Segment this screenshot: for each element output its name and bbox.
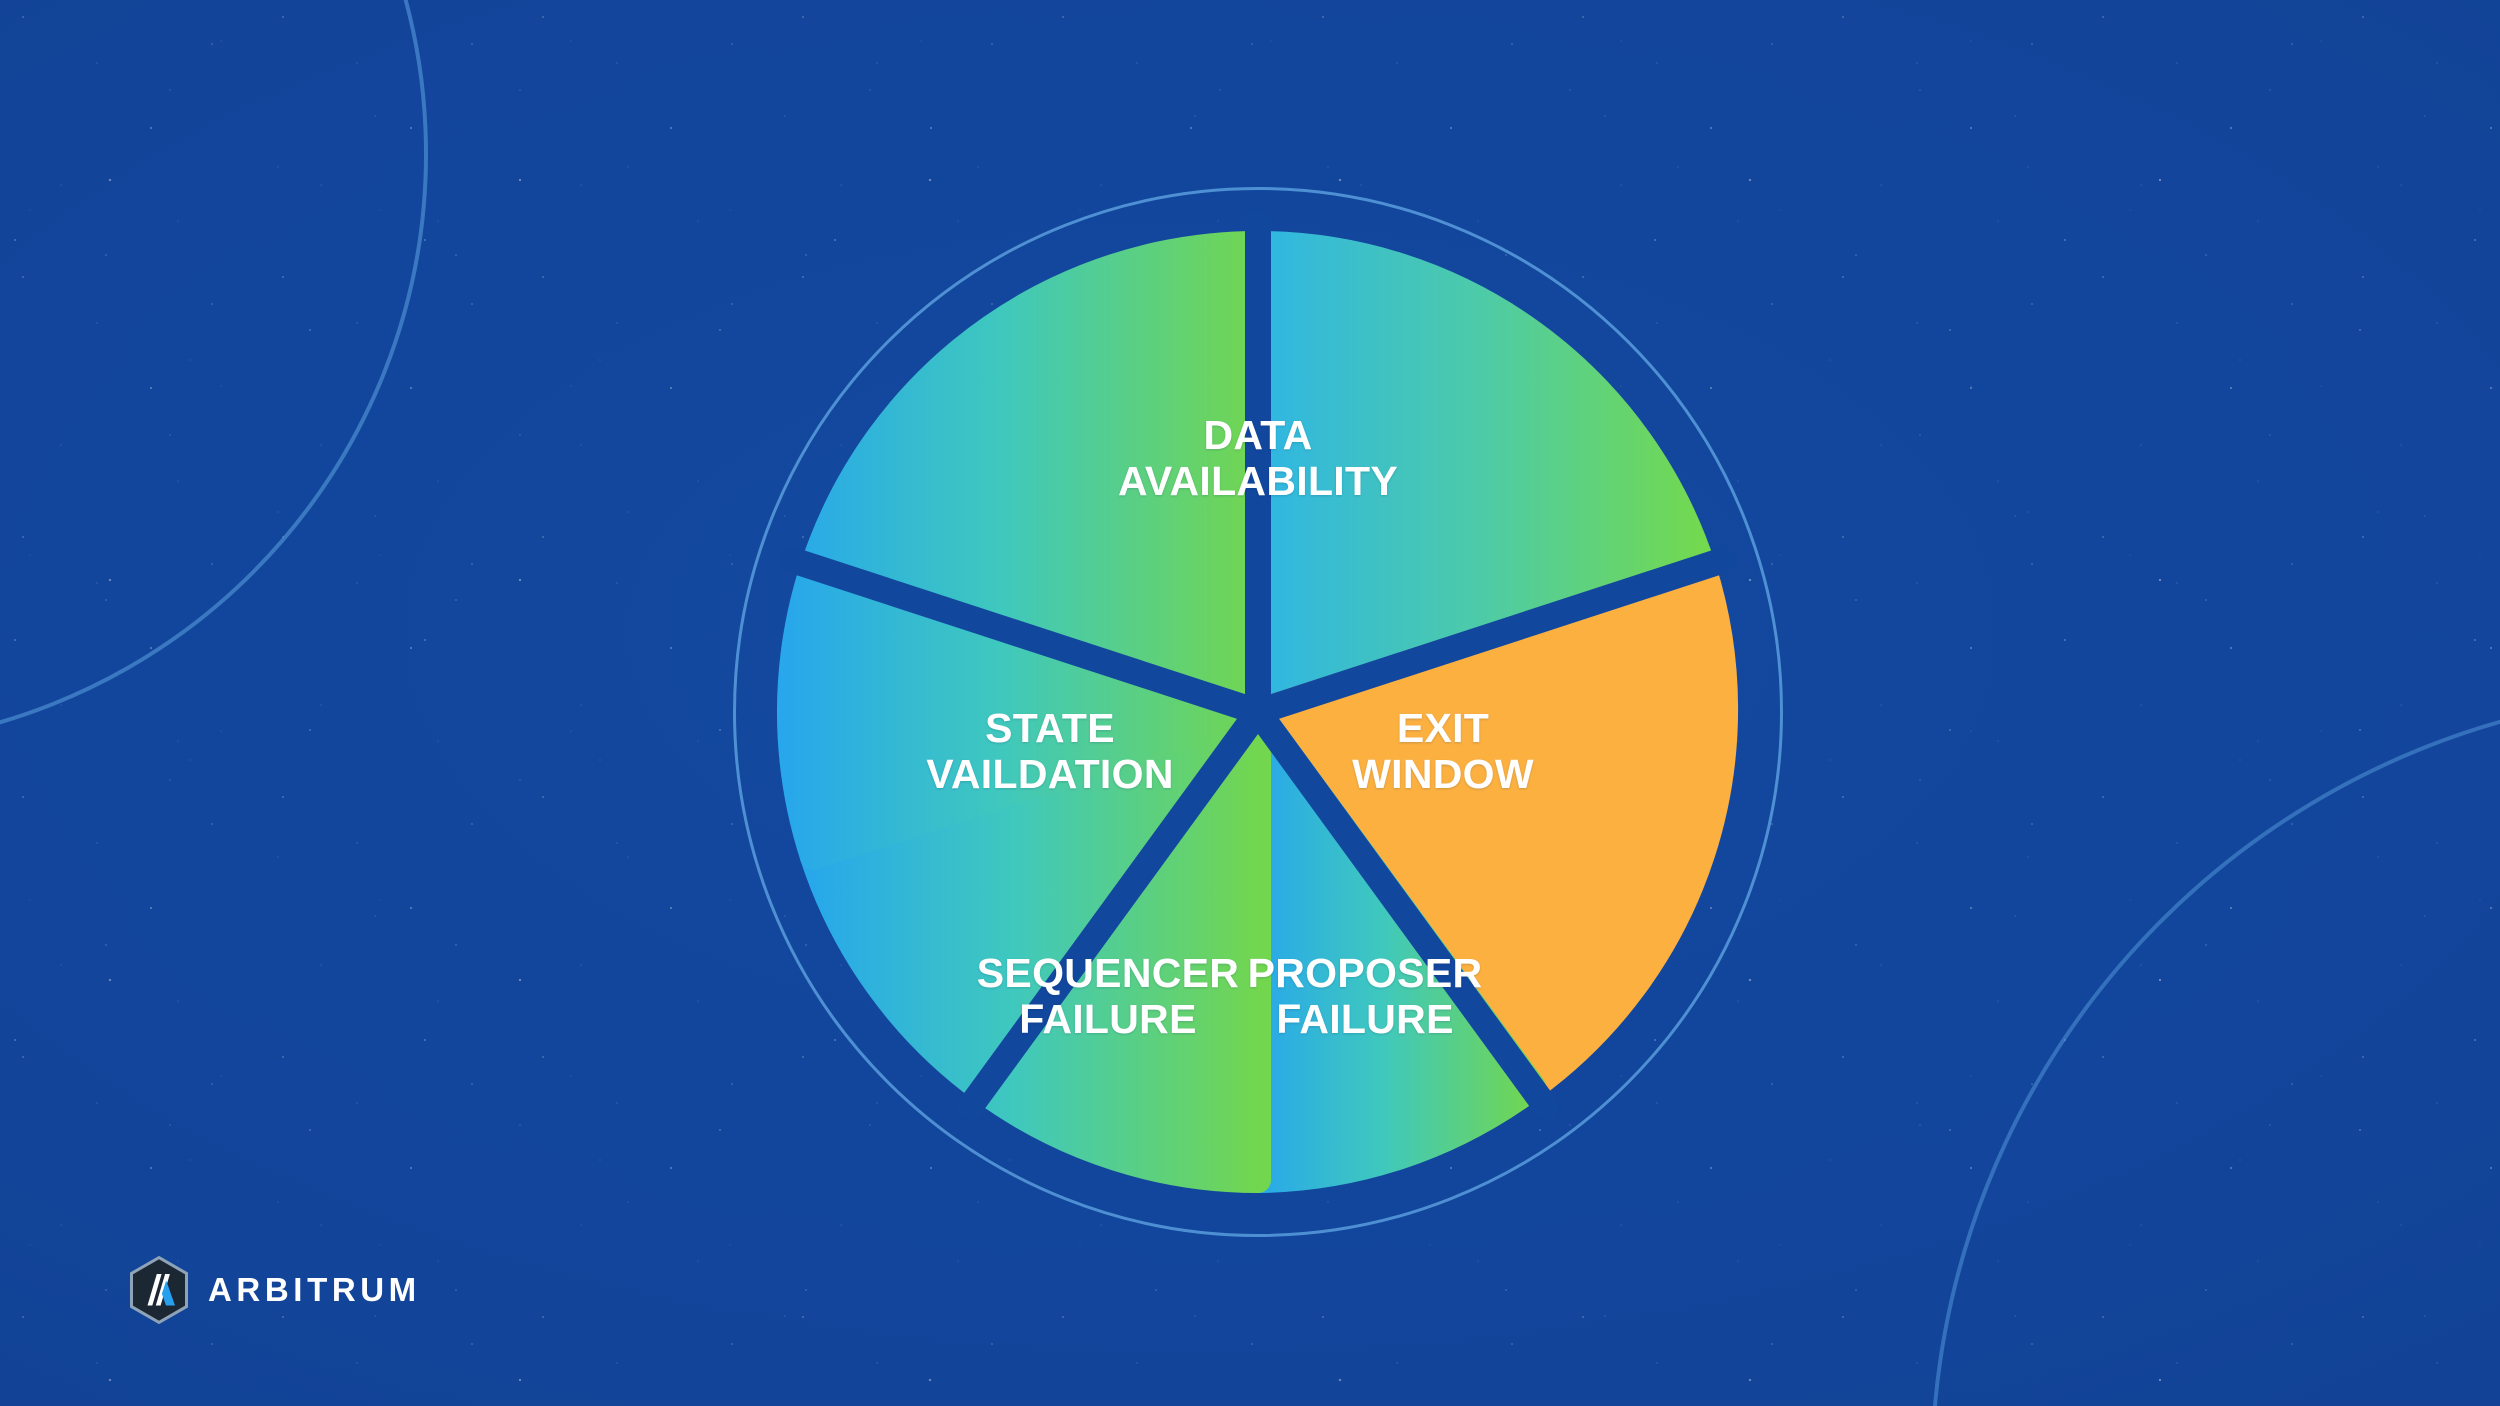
infographic-canvas: DATA AVAILABILITY EXIT WINDOW PROPOSER F… xyxy=(0,0,2500,1406)
pie-slices xyxy=(728,182,1788,1242)
arbitrum-logo: ARBITRUM xyxy=(128,1256,421,1324)
arbitrum-hexagon-icon xyxy=(128,1256,190,1324)
arbitrum-wordmark: ARBITRUM xyxy=(208,1271,421,1309)
pie-center-hub xyxy=(1242,696,1274,728)
pie-chart: DATA AVAILABILITY EXIT WINDOW PROPOSER F… xyxy=(728,182,1788,1242)
